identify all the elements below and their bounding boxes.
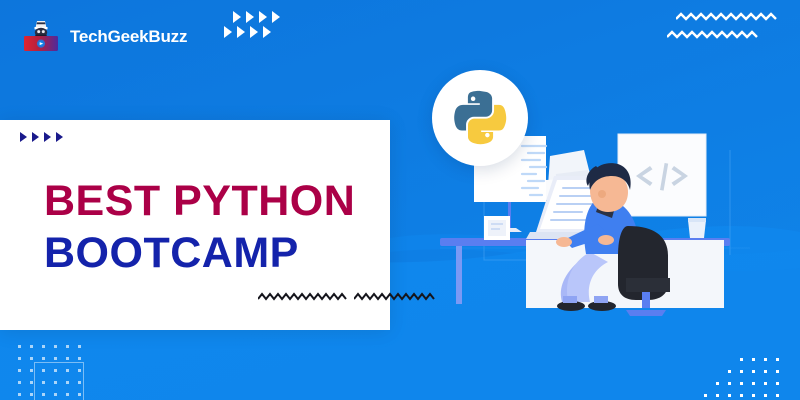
dot	[752, 382, 755, 385]
dot-row	[18, 381, 81, 384]
dot-row	[18, 369, 81, 372]
dot	[740, 370, 743, 373]
chevron-row-upper	[233, 11, 280, 23]
card-zigzag-decoration	[258, 288, 454, 306]
dot	[78, 393, 81, 396]
dot	[54, 345, 57, 348]
dot	[764, 370, 767, 373]
dot	[66, 345, 69, 348]
chevron-right-icon	[250, 26, 258, 38]
dot	[78, 381, 81, 384]
desk-cup	[688, 218, 706, 238]
dot-row	[728, 370, 779, 373]
dot	[18, 393, 21, 396]
page-title: BEST PYTHON BOOTCAMP	[44, 180, 355, 274]
chevron-right-icon	[237, 26, 245, 38]
dot	[78, 345, 81, 348]
dot	[776, 394, 779, 397]
dot	[776, 382, 779, 385]
dot	[54, 357, 57, 360]
chevron-right-icon	[259, 11, 267, 23]
dot	[752, 370, 755, 373]
dot-row	[716, 382, 779, 385]
chevron-right-icon	[233, 11, 241, 23]
hand	[556, 237, 572, 247]
chevron-right-icon	[263, 26, 271, 38]
python-logo-icon	[449, 87, 511, 149]
dot	[54, 393, 57, 396]
zigzag-icon	[258, 292, 358, 301]
dot	[42, 357, 45, 360]
dot	[42, 393, 45, 396]
dot	[78, 357, 81, 360]
dot	[752, 358, 755, 361]
brand-name: TechGeekBuzz	[70, 27, 187, 47]
dot	[704, 394, 707, 397]
desk-photo-frame	[484, 216, 510, 240]
dot	[716, 382, 719, 385]
chevron-right-icon	[32, 132, 39, 142]
zigzag-icon	[667, 30, 775, 39]
chevron-right-icon	[20, 132, 27, 142]
brand-logo[interactable]: TechGeekBuzz	[22, 20, 187, 54]
dot	[740, 394, 743, 397]
dot	[18, 381, 21, 384]
dot	[728, 382, 731, 385]
dot	[752, 394, 755, 397]
chevron-right-icon	[224, 26, 232, 38]
banner-root: TechGeekBuzz	[0, 0, 800, 400]
card-chevron-decoration	[20, 132, 63, 142]
dot-row	[740, 358, 779, 361]
python-logo-badge	[432, 70, 528, 166]
dot	[30, 357, 33, 360]
dot-grid-bottom-left	[18, 345, 81, 400]
zigzag-icon	[354, 292, 454, 301]
dot	[740, 358, 743, 361]
dot	[18, 345, 21, 348]
dot	[78, 369, 81, 372]
dot	[776, 358, 779, 361]
dot-row	[18, 345, 81, 348]
dot-row	[18, 393, 81, 396]
dot	[764, 382, 767, 385]
dot	[716, 394, 719, 397]
dot	[30, 345, 33, 348]
chevron-right-icon	[44, 132, 51, 142]
headline-line-2: BOOTCAMP	[44, 232, 355, 274]
chevron-right-icon	[246, 11, 254, 23]
dot	[764, 358, 767, 361]
dot	[54, 381, 57, 384]
dot	[764, 394, 767, 397]
dot-row	[704, 394, 779, 397]
dot	[66, 381, 69, 384]
dot	[42, 345, 45, 348]
top-chevron-decoration	[233, 11, 280, 38]
dot	[728, 394, 731, 397]
code-board	[618, 134, 706, 216]
chevron-row-lower	[224, 26, 280, 38]
dot	[54, 369, 57, 372]
techgeekbuzz-logo-icon	[22, 20, 60, 54]
dot	[30, 381, 33, 384]
dot	[66, 369, 69, 372]
top-zigzag-decoration	[676, 8, 800, 44]
dot	[66, 393, 69, 396]
dot	[728, 370, 731, 373]
dot	[18, 369, 21, 372]
dot	[42, 369, 45, 372]
dot-grid-bottom-right	[722, 358, 779, 400]
dot	[740, 382, 743, 385]
dot	[18, 357, 21, 360]
hand	[598, 235, 614, 245]
chevron-right-icon	[272, 11, 280, 23]
chevron-right-icon	[56, 132, 63, 142]
dot	[42, 381, 45, 384]
headline-line-1: BEST PYTHON	[44, 180, 355, 222]
dot	[30, 369, 33, 372]
dot-row	[18, 357, 81, 360]
dot	[30, 393, 33, 396]
zigzag-icon	[676, 12, 784, 21]
dot	[66, 357, 69, 360]
dot	[776, 370, 779, 373]
